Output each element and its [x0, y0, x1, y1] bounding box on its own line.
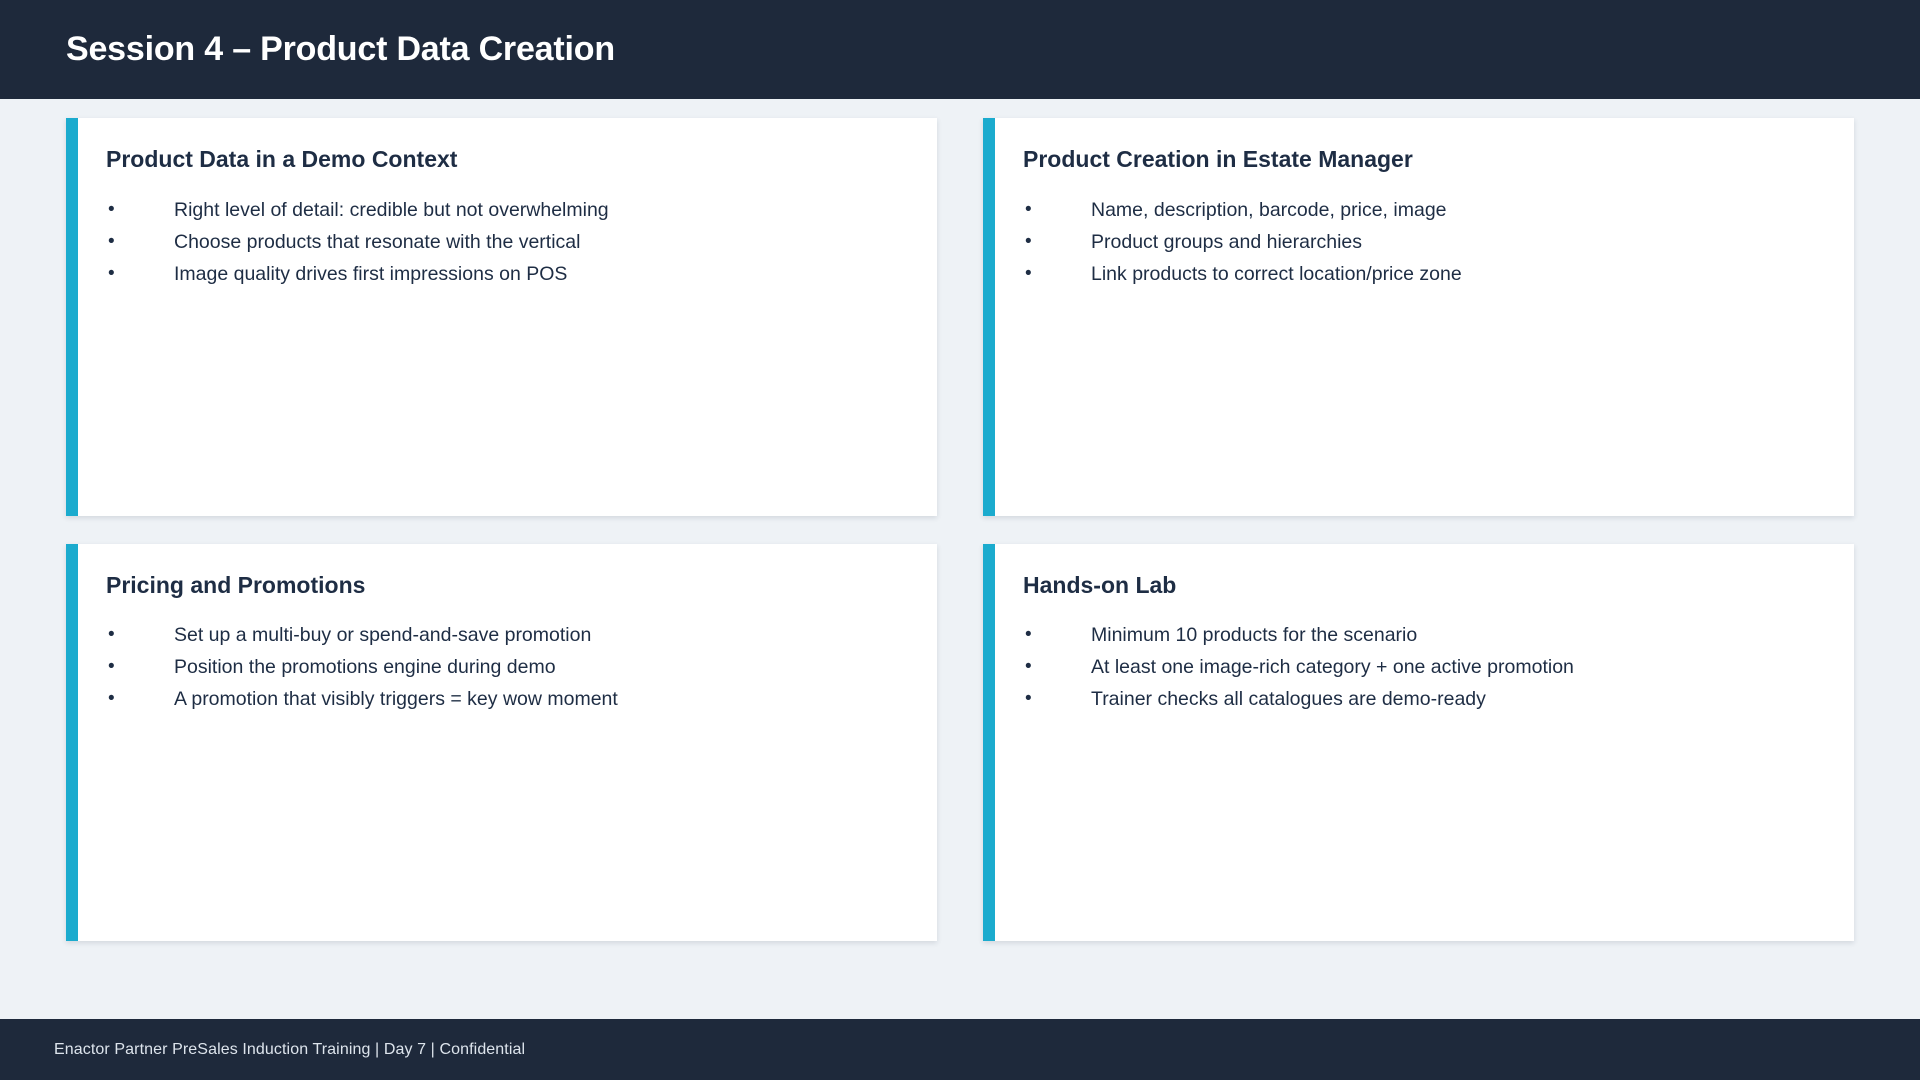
list-item: • Choose products that resonate with the…	[106, 230, 907, 255]
card-accent-bar	[983, 544, 995, 942]
bullet-text: Product groups and hierarchies	[1091, 230, 1362, 255]
bullet-text: Image quality drives first impressions o…	[174, 262, 567, 287]
bullet-dot-icon: •	[1023, 655, 1091, 679]
list-item: • Set up a multi-buy or spend-and-save p…	[106, 623, 907, 648]
bullet-dot-icon: •	[106, 623, 174, 647]
bullet-dot-icon: •	[1023, 623, 1091, 647]
list-item: • Minimum 10 products for the scenario	[1023, 623, 1824, 648]
bullet-dot-icon: •	[1023, 687, 1091, 711]
content-card-4: Hands-on Lab • Minimum 10 products for t…	[983, 544, 1854, 942]
page-title: Session 4 – Product Data Creation	[0, 30, 615, 69]
card-title: Product Creation in Estate Manager	[1023, 146, 1824, 174]
content-card-2: Product Creation in Estate Manager • Nam…	[983, 118, 1854, 516]
bullet-list: • Minimum 10 products for the scenario •…	[1023, 623, 1824, 712]
card-body: Product Data in a Demo Context • Right l…	[78, 118, 937, 516]
card-body: Hands-on Lab • Minimum 10 products for t…	[995, 544, 1854, 942]
bullet-dot-icon: •	[1023, 198, 1091, 222]
slide-body: Product Data in a Demo Context • Right l…	[0, 99, 1920, 1019]
bullet-dot-icon: •	[106, 655, 174, 679]
list-item: • Position the promotions engine during …	[106, 655, 907, 680]
list-item: • Image quality drives first impressions…	[106, 262, 907, 287]
footer-text: Enactor Partner PreSales Induction Train…	[0, 1041, 525, 1059]
card-accent-bar	[66, 544, 78, 942]
card-title: Hands-on Lab	[1023, 572, 1824, 600]
bullet-text: Set up a multi-buy or spend-and-save pro…	[174, 623, 591, 648]
card-accent-bar	[66, 118, 78, 516]
slide: Session 4 – Product Data Creation Produc…	[0, 0, 1920, 1080]
bullet-text: Trainer checks all catalogues are demo-r…	[1091, 687, 1486, 712]
list-item: • Right level of detail: credible but no…	[106, 198, 907, 223]
content-card-1: Product Data in a Demo Context • Right l…	[66, 118, 937, 516]
bullet-list: • Name, description, barcode, price, ima…	[1023, 198, 1824, 287]
bullet-list: • Set up a multi-buy or spend-and-save p…	[106, 623, 907, 712]
bullet-dot-icon: •	[106, 198, 174, 222]
list-item: • Name, description, barcode, price, ima…	[1023, 198, 1824, 223]
bullet-dot-icon: •	[106, 230, 174, 254]
slide-header: Session 4 – Product Data Creation	[0, 0, 1920, 99]
list-item: • At least one image-rich category + one…	[1023, 655, 1824, 680]
bullet-text: Link products to correct location/price …	[1091, 262, 1462, 287]
list-item: • Link products to correct location/pric…	[1023, 262, 1824, 287]
bullet-text: Minimum 10 products for the scenario	[1091, 623, 1417, 648]
card-title: Pricing and Promotions	[106, 572, 907, 600]
list-item: • Trainer checks all catalogues are demo…	[1023, 687, 1824, 712]
bullet-dot-icon: •	[106, 687, 174, 711]
bullet-text: Right level of detail: credible but not …	[174, 198, 609, 223]
bullet-text: Name, description, barcode, price, image	[1091, 198, 1447, 223]
bullet-list: • Right level of detail: credible but no…	[106, 198, 907, 287]
bullet-text: A promotion that visibly triggers = key …	[174, 687, 618, 712]
bullet-text: Choose products that resonate with the v…	[174, 230, 580, 255]
bullet-dot-icon: •	[1023, 230, 1091, 254]
bullet-dot-icon: •	[106, 262, 174, 286]
card-accent-bar	[983, 118, 995, 516]
content-card-3: Pricing and Promotions • Set up a multi-…	[66, 544, 937, 942]
bullet-text: Position the promotions engine during de…	[174, 655, 556, 680]
card-title: Product Data in a Demo Context	[106, 146, 907, 174]
card-body: Product Creation in Estate Manager • Nam…	[995, 118, 1854, 516]
bullet-text: At least one image-rich category + one a…	[1091, 655, 1574, 680]
list-item: • A promotion that visibly triggers = ke…	[106, 687, 907, 712]
card-grid: Product Data in a Demo Context • Right l…	[66, 118, 1854, 941]
card-body: Pricing and Promotions • Set up a multi-…	[78, 544, 937, 942]
bullet-dot-icon: •	[1023, 262, 1091, 286]
list-item: • Product groups and hierarchies	[1023, 230, 1824, 255]
slide-footer: Enactor Partner PreSales Induction Train…	[0, 1019, 1920, 1080]
